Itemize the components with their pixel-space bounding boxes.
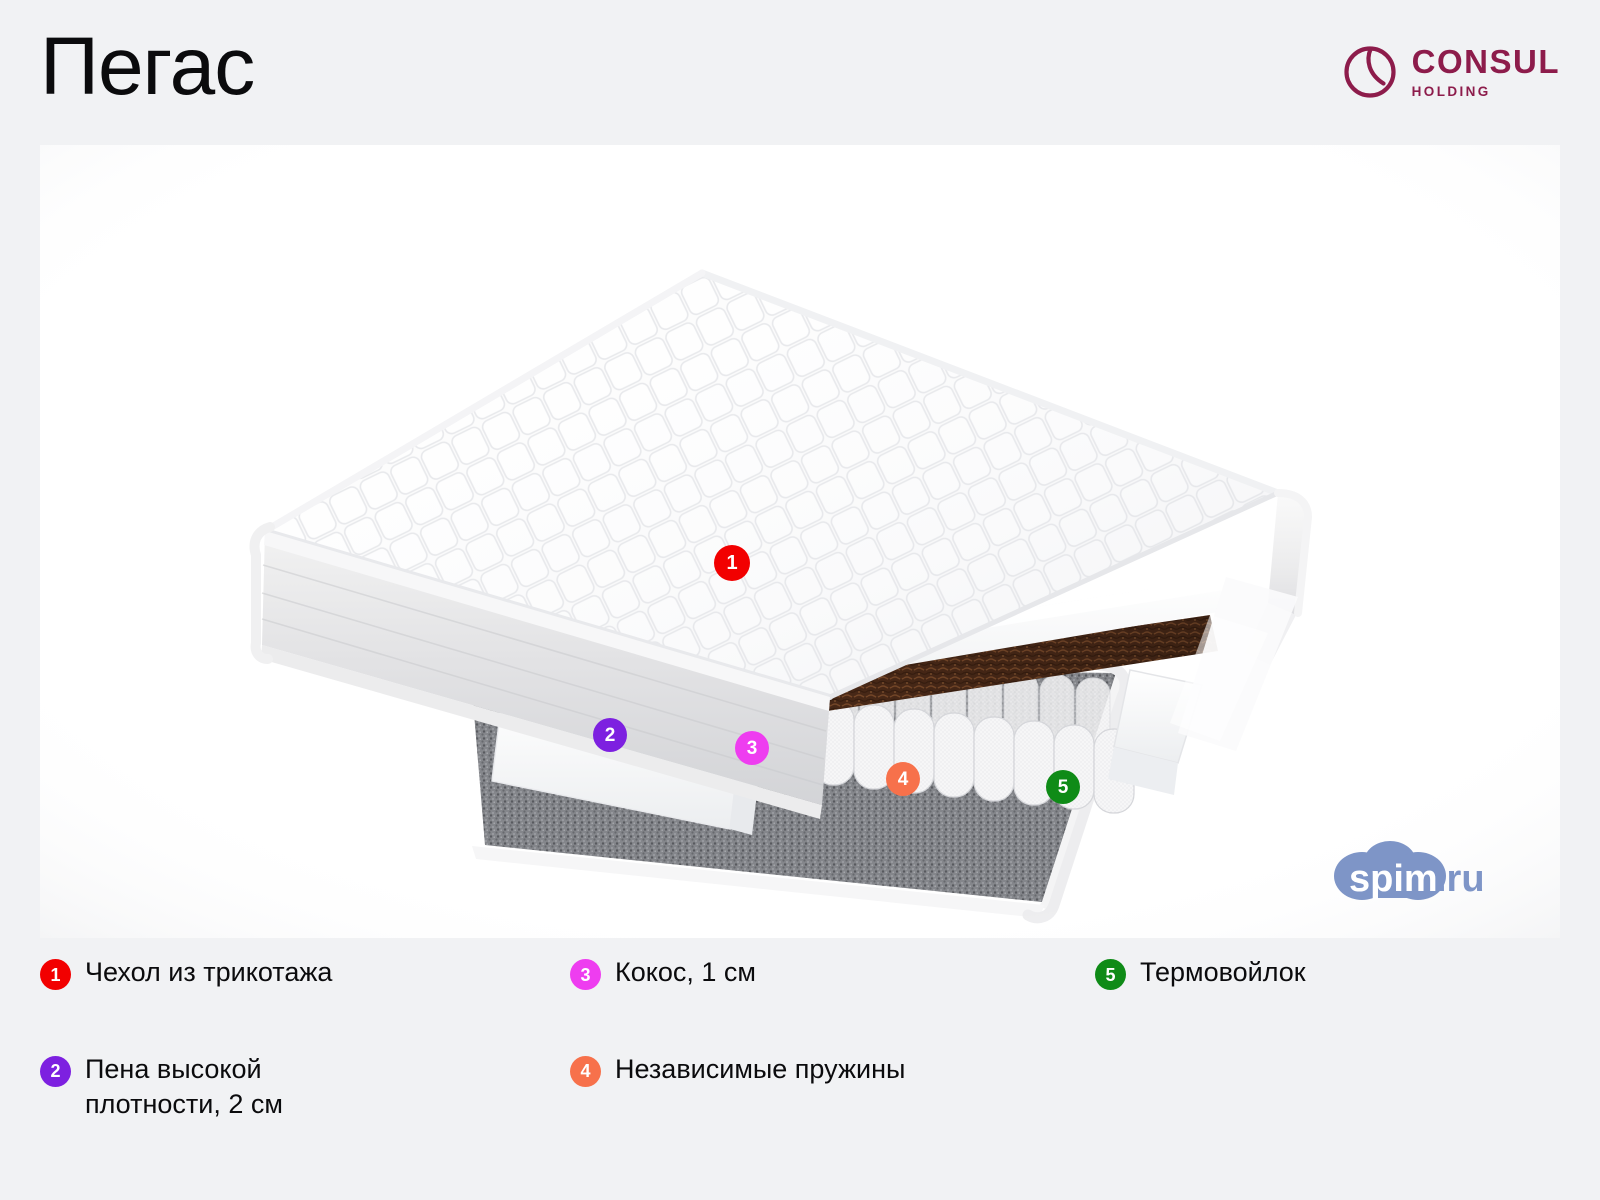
svg-text:spim: spim: [1349, 858, 1438, 900]
legend-label-4: Независимые пружины: [615, 1052, 905, 1087]
consul-circle-icon: [1342, 44, 1398, 100]
legend-number-1: 1: [50, 966, 60, 984]
callout-number-3: 3: [747, 739, 758, 758]
callout-number-4: 4: [898, 770, 909, 789]
spim-ru-watermark: spim .ru: [1332, 832, 1522, 910]
callout-marker-4[interactable]: 4: [886, 762, 920, 796]
legend-label-3: Кокос, 1 см: [615, 955, 756, 990]
legend-badge-4: 4: [570, 1056, 601, 1087]
legend-item-3: 3 Кокос, 1 см: [570, 955, 1095, 1024]
brand-logo: CONSUL HOLDING: [1342, 44, 1560, 100]
legend-number-3: 3: [580, 966, 590, 984]
legend-item-4: 4 Независимые пружины: [570, 1052, 1095, 1155]
brand-name: CONSUL: [1412, 45, 1560, 78]
svg-text:.ru: .ru: [1436, 858, 1485, 900]
legend-label-5: Термовойлок: [1140, 955, 1306, 990]
callout-number-2: 2: [605, 726, 616, 745]
legend-item-5: 5 Термовойлок: [1095, 955, 1560, 1024]
legend-number-2: 2: [50, 1062, 60, 1080]
legend-badge-3: 3: [570, 959, 601, 990]
legend-number-4: 4: [580, 1062, 590, 1080]
page-title: Пегас: [40, 26, 254, 108]
page-header: Пегас CONSUL HOLDING: [0, 0, 1600, 145]
layer-legend: 1 Чехол из трикотажа 2 Пена высокой плот…: [40, 955, 1560, 1155]
callout-marker-3[interactable]: 3: [735, 731, 769, 765]
legend-badge-2: 2: [40, 1056, 71, 1087]
legend-label-2: Пена высокой плотности, 2 см: [85, 1052, 283, 1121]
legend-number-5: 5: [1105, 966, 1115, 984]
brand-subtitle: HOLDING: [1412, 85, 1560, 99]
legend-label-1: Чехол из трикотажа: [85, 955, 332, 990]
product-card-page: Пегас CONSUL HOLDING: [0, 0, 1600, 1200]
illustration-panel: 1 2 3 4 5 spim .ru: [40, 145, 1560, 938]
callout-marker-5[interactable]: 5: [1046, 770, 1080, 804]
legend-badge-5: 5: [1095, 959, 1126, 990]
callout-number-1: 1: [726, 553, 737, 573]
brand-wordmark: CONSUL HOLDING: [1412, 45, 1560, 99]
legend-badge-1: 1: [40, 959, 71, 990]
callout-marker-2[interactable]: 2: [593, 718, 627, 752]
legend-item-1: 1 Чехол из трикотажа: [40, 955, 570, 1024]
mattress-cutaway-illustration: [40, 145, 1560, 938]
callout-number-5: 5: [1058, 778, 1069, 797]
legend-item-2: 2 Пена высокой плотности, 2 см: [40, 1052, 570, 1155]
callout-marker-1[interactable]: 1: [714, 545, 750, 581]
